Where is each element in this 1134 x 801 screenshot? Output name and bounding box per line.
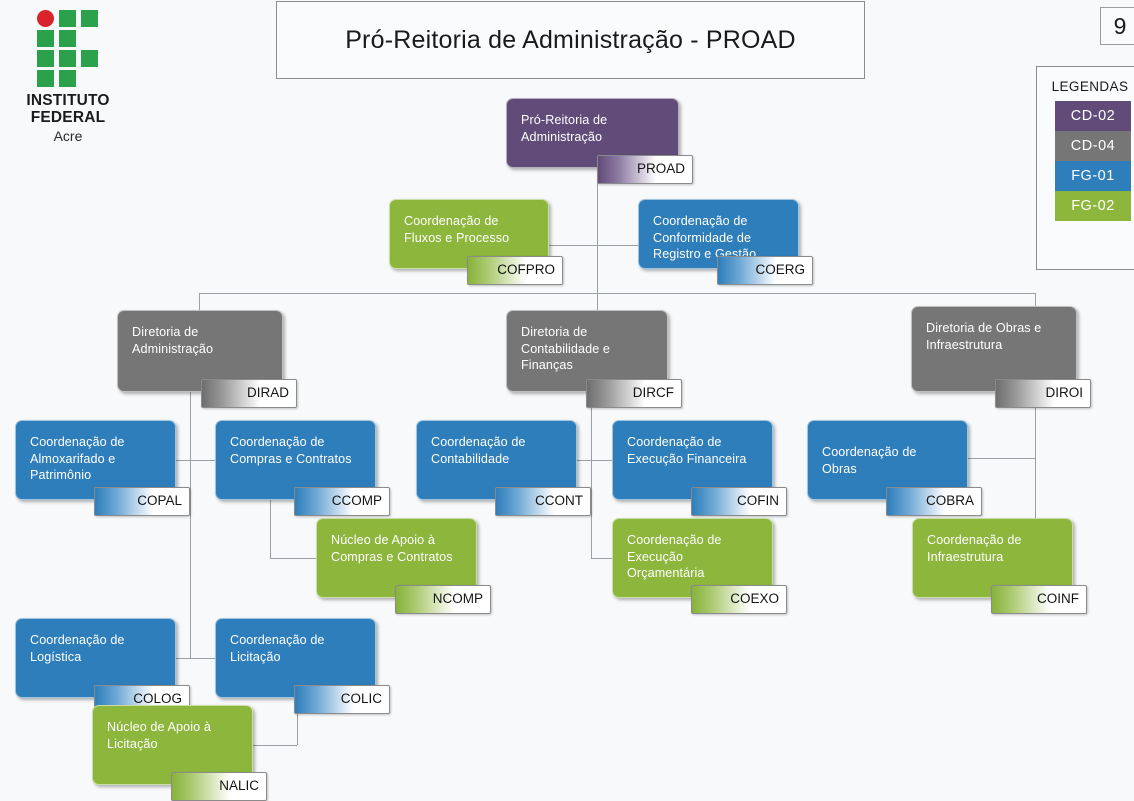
legend-item-label: CD-02: [1071, 108, 1115, 124]
connector-dirad-colog: [176, 658, 190, 659]
connector-dircf-coexo: [591, 558, 612, 559]
connector-dirad-ccomp: [190, 460, 215, 461]
node-diroi-label: Diretoria de Obras e Infraestrutura: [926, 321, 1041, 352]
connector-proad-coerg: [597, 245, 638, 246]
node-coexo[interactable]: Coordenação de Execução Orçamentária COE…: [612, 518, 773, 598]
node-cobra-label: Coordenação de Obras: [822, 445, 917, 476]
legend-item-cd04: CD-04: [1055, 131, 1131, 161]
logo-institution-name: INSTITUTO FEDERAL: [8, 92, 128, 126]
page-title: Pró-Reitoria de Administração - PROAD: [345, 26, 796, 55]
node-cofin-label: Coordenação de Execução Financeira: [627, 435, 747, 466]
connector-ccomp-ncomp: [270, 558, 316, 559]
node-dircf-acronym: DIRCF: [586, 379, 682, 408]
node-coinf-label: Coordenação de Infraestrutura: [927, 533, 1022, 564]
node-cofpro-label: Coordenação de Fluxos e Processo: [404, 214, 509, 245]
connector-directorate-bus: [199, 293, 1035, 294]
instituto-federal-grid-icon: [37, 10, 99, 86]
node-cofpro[interactable]: Coordenação de Fluxos e Processo COFPRO: [389, 199, 549, 269]
node-colic-acronym: COLIC: [294, 685, 390, 714]
node-dircf[interactable]: Diretoria de Contabilidade e Finanças DI…: [506, 310, 668, 392]
node-nalic[interactable]: Núcleo de Apoio à Licitação NALIC: [92, 705, 253, 785]
connector-dirad-copal: [176, 460, 190, 461]
node-copal-acronym: COPAL: [94, 487, 190, 516]
node-ccont-label: Coordenação de Contabilidade: [431, 435, 526, 466]
connector-dirad-colic: [190, 658, 215, 659]
node-cofpro-acronym: COFPRO: [467, 256, 563, 285]
connector-dircf-ccont: [577, 460, 591, 461]
org-chart-canvas: INSTITUTO FEDERAL Acre Pró-Reitoria de A…: [0, 0, 1134, 800]
node-cofin-acronym: COFIN: [691, 487, 787, 516]
legend-item-label: FG-01: [1071, 168, 1115, 184]
page-title-banner: Pró-Reitoria de Administração - PROAD: [276, 1, 865, 79]
legend-title: LEGENDAS: [1037, 79, 1134, 94]
connector-bus-to-dirad: [199, 293, 200, 310]
node-colic[interactable]: Coordenação de Licitação COLIC: [215, 618, 376, 698]
page-number: 9: [1100, 7, 1134, 45]
node-cofin[interactable]: Coordenação de Execução Financeira COFIN: [612, 420, 773, 500]
node-dircf-label: Diretoria de Contabilidade e Finanças: [521, 325, 610, 372]
node-ccont[interactable]: Coordenação de Contabilidade CCONT: [416, 420, 577, 500]
node-ccont-acronym: CCONT: [495, 487, 591, 516]
connector-bus-to-dircf: [597, 293, 598, 310]
node-dirad-label: Diretoria de Administração: [132, 325, 213, 356]
node-ccomp-acronym: CCOMP: [294, 487, 390, 516]
node-copal[interactable]: Coordenação de Almoxarifado e Patrimônio…: [15, 420, 176, 500]
connector-diroi-cobra: [968, 458, 1035, 459]
connector-colic-nalic: [252, 745, 297, 746]
connector-proad-trunk: [597, 168, 598, 294]
connector-dircf-trunk: [591, 392, 592, 558]
logo-campus-label: Acre: [8, 128, 128, 144]
connector-dirad-trunk: [190, 392, 191, 658]
node-dirad-acronym: DIRAD: [201, 379, 297, 408]
connector-dircf-cofin: [591, 460, 612, 461]
node-coexo-label: Coordenação de Execução Orçamentária: [627, 533, 722, 580]
node-ccomp[interactable]: Coordenação de Compras e Contratos CCOMP: [215, 420, 376, 500]
node-copal-label: Coordenação de Almoxarifado e Patrimônio: [30, 435, 125, 482]
legend-item-cd02: CD-02: [1055, 101, 1131, 131]
legend-item-fg02: FG-02: [1055, 191, 1131, 221]
node-diroi-acronym: DIROI: [995, 379, 1091, 408]
node-coerg[interactable]: Coordenação de Conformidade de Registro …: [638, 199, 799, 269]
logo-name-line1: INSTITUTO: [26, 92, 109, 109]
node-colic-label: Coordenação de Licitação: [230, 633, 325, 664]
node-proad-acronym: PROAD: [597, 155, 693, 184]
legend-item-label: CD-04: [1071, 138, 1115, 154]
node-cobra-acronym: COBRA: [886, 487, 982, 516]
node-coexo-acronym: COEXO: [691, 585, 787, 614]
node-ncomp[interactable]: Núcleo de Apoio à Compras e Contratos NC…: [316, 518, 477, 598]
node-coerg-label: Coordenação de Conformidade de Registro …: [653, 214, 756, 261]
connector-proad-cofpro: [549, 245, 597, 246]
connector-ccomp-trunk: [270, 500, 271, 558]
node-coerg-acronym: COERG: [717, 256, 813, 285]
legend-item-label: FG-02: [1071, 198, 1115, 214]
node-coinf[interactable]: Coordenação de Infraestrutura COINF: [912, 518, 1073, 598]
legend-panel: LEGENDAS CD-02 CD-04 FG-01 FG-02: [1036, 66, 1134, 270]
node-proad-label: Pró-Reitoria de Administração: [521, 113, 607, 144]
logo-name-line2: FEDERAL: [31, 109, 106, 126]
node-colog-label: Coordenação de Logística: [30, 633, 125, 664]
instituto-federal-logo: INSTITUTO FEDERAL Acre: [8, 6, 128, 144]
node-nalic-label: Núcleo de Apoio à Licitação: [107, 720, 211, 751]
node-coinf-acronym: COINF: [991, 585, 1087, 614]
node-ncomp-acronym: NCOMP: [395, 585, 491, 614]
node-ncomp-label: Núcleo de Apoio à Compras e Contratos: [331, 533, 453, 564]
node-dirad[interactable]: Diretoria de Administração DIRAD: [117, 310, 283, 392]
node-diroi[interactable]: Diretoria de Obras e Infraestrutura DIRO…: [911, 306, 1077, 392]
legend-item-fg01: FG-01: [1055, 161, 1131, 191]
node-colog[interactable]: Coordenação de Logística COLOG: [15, 618, 176, 698]
node-nalic-acronym: NALIC: [171, 772, 267, 801]
node-cobra[interactable]: Coordenação de Obras COBRA: [807, 420, 968, 500]
connector-diroi-trunk: [1035, 392, 1036, 518]
node-proad[interactable]: Pró-Reitoria de Administração PROAD: [506, 98, 679, 168]
node-ccomp-label: Coordenação de Compras e Contratos: [230, 435, 352, 466]
